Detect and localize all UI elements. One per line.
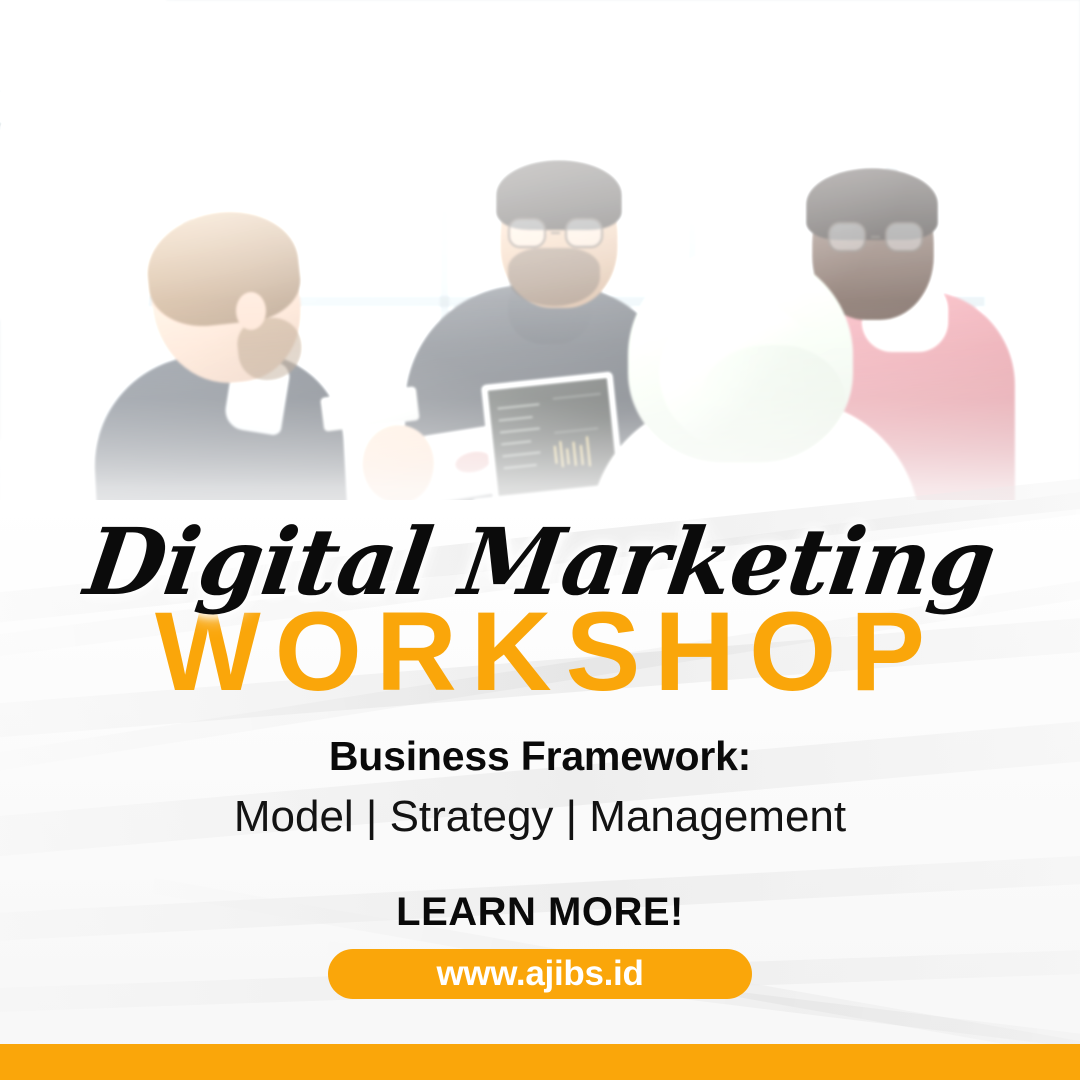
script-title: Digital Marketing — [0, 508, 1080, 616]
bottom-accent-bar — [0, 1044, 1080, 1080]
subtitle-pillars: Model | Strategy | Management — [0, 792, 1080, 842]
hero-photo: come Earnings 67% — [0, 0, 1080, 560]
url-button[interactable]: www.ajibs.id — [328, 949, 752, 999]
subtitle-business-framework: Business Framework: — [0, 733, 1080, 780]
promo-poster: come Earnings 67% — [0, 0, 1080, 1080]
cta-learn-more: LEARN MORE! — [0, 890, 1080, 935]
url-button-label: www.ajibs.id — [436, 954, 643, 994]
